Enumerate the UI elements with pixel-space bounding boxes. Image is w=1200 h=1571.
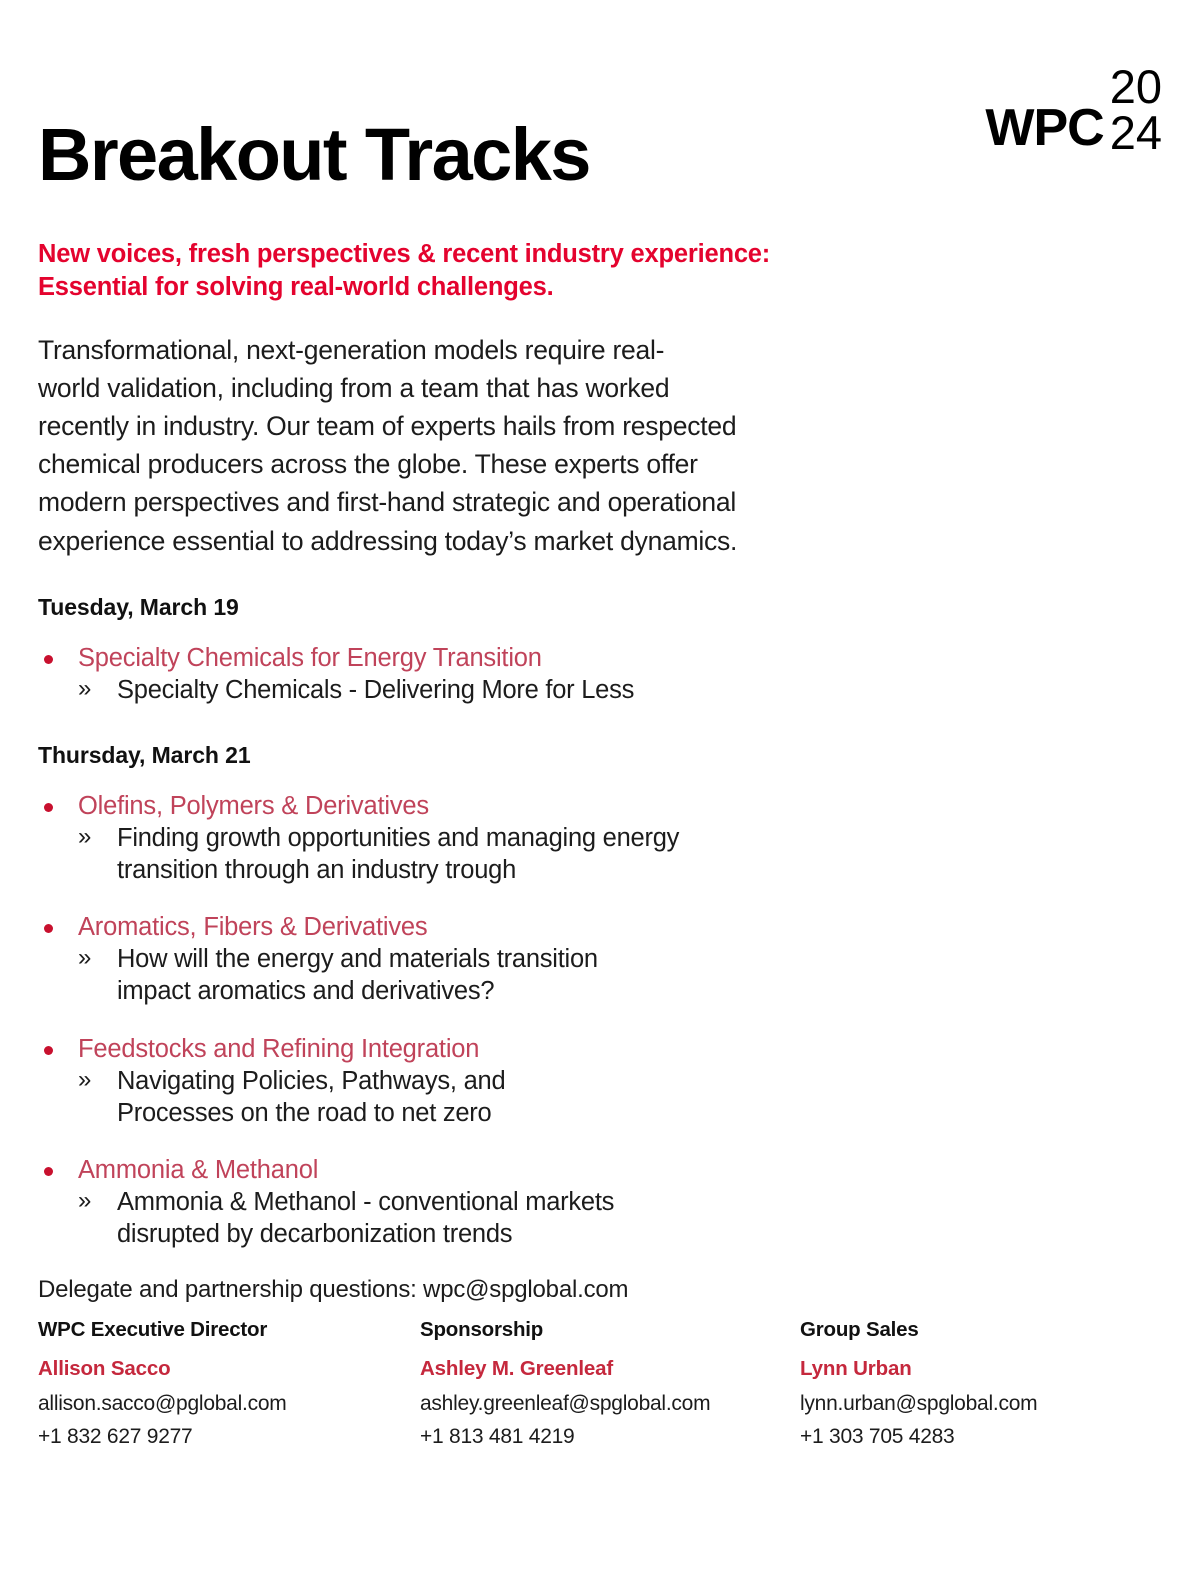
track-title: Specialty Chemicals for Energy Transitio…	[78, 643, 1162, 673]
track-session-line-1: How will the energy and materials transi…	[117, 943, 1162, 975]
intro-line-1: Transformational, next-generation models…	[38, 331, 1048, 369]
day-section-tuesday: Tuesday, March 19 Specialty Chemicals fo…	[38, 594, 1162, 706]
track-session-line-1: Ammonia & Methanol - conventional market…	[117, 1186, 1162, 1218]
logo-year-bottom: 24	[1110, 110, 1162, 156]
intro-line-4: chemical producers across the globe. The…	[38, 445, 1048, 483]
subheadline: New voices, fresh perspectives & recent …	[38, 238, 1098, 305]
day-section-thursday: Thursday, March 21 Olefins, Polymers & D…	[38, 742, 1162, 1250]
double-chevron-icon: »	[78, 1186, 91, 1216]
subheadline-line-2: Essential for solving real-world challen…	[38, 271, 1098, 304]
track-item[interactable]: Olefins, Polymers & Derivatives » Findin…	[38, 791, 1162, 886]
delegate-questions-line[interactable]: Delegate and partnership questions: wpc@…	[38, 1276, 1162, 1304]
day-heading: Thursday, March 21	[38, 742, 1162, 769]
track-session: » How will the energy and materials tran…	[78, 943, 1162, 1007]
contact-email[interactable]: lynn.urban@spglobal.com	[800, 1388, 1162, 1421]
double-chevron-icon: »	[78, 1065, 91, 1095]
logo-brand-text: WPC	[985, 102, 1103, 154]
track-session-line-2: Processes on the road to net zero	[117, 1097, 1162, 1129]
contact-column: Sponsorship Ashley M. Greenleaf ashley.g…	[420, 1318, 800, 1453]
contact-role: Sponsorship	[420, 1318, 800, 1342]
track-title: Olefins, Polymers & Derivatives	[78, 791, 1162, 821]
contact-name: Lynn Urban	[800, 1357, 1162, 1381]
contact-name: Allison Sacco	[38, 1357, 420, 1381]
contact-name: Ashley M. Greenleaf	[420, 1357, 800, 1381]
double-chevron-icon: »	[78, 943, 91, 973]
bullet-dot-icon	[44, 803, 53, 812]
intro-line-3: recently in industry. Our team of expert…	[38, 407, 1048, 445]
double-chevron-icon: »	[78, 674, 91, 704]
contact-email[interactable]: allison.sacco@pglobal.com	[38, 1388, 420, 1421]
track-item[interactable]: Aromatics, Fibers & Derivatives » How wi…	[38, 912, 1162, 1007]
contact-column: Group Sales Lynn Urban lynn.urban@spglob…	[800, 1318, 1162, 1453]
track-session-line-2: impact aromatics and derivatives?	[117, 975, 1162, 1007]
track-title: Aromatics, Fibers & Derivatives	[78, 912, 1162, 942]
track-session-line-2: disrupted by decarbonization trends	[117, 1218, 1162, 1250]
intro-line-2: world validation, including from a team …	[38, 369, 1048, 407]
track-session: » Specialty Chemicals - Delivering More …	[78, 674, 1162, 706]
track-item[interactable]: Feedstocks and Refining Integration » Na…	[38, 1034, 1162, 1129]
bullet-dot-icon	[44, 655, 53, 664]
intro-line-5: modern perspectives and first-hand strat…	[38, 483, 1048, 521]
day-heading: Tuesday, March 19	[38, 594, 1162, 621]
track-title: Feedstocks and Refining Integration	[78, 1034, 1162, 1064]
wpc-logo: WPC 20 24	[985, 62, 1162, 154]
contacts-grid: WPC Executive Director Allison Sacco all…	[38, 1318, 1162, 1453]
track-session-line-2: transition through an industry trough	[117, 854, 1162, 886]
contact-phone[interactable]: +1 832 627 9277	[38, 1421, 420, 1454]
page-title: Breakout Tracks	[38, 118, 590, 192]
track-session-line-1: Specialty Chemicals - Delivering More fo…	[117, 674, 1162, 706]
track-session: » Finding growth opportunities and manag…	[78, 822, 1162, 886]
page-header: Breakout Tracks WPC 20 24	[38, 0, 1162, 238]
track-item[interactable]: Ammonia & Methanol » Ammonia & Methanol …	[38, 1155, 1162, 1250]
bullet-dot-icon	[44, 1167, 53, 1176]
contact-phone[interactable]: +1 303 705 4283	[800, 1421, 1162, 1454]
logo-year-top: 20	[1110, 64, 1162, 110]
contact-role: Group Sales	[800, 1318, 1162, 1342]
intro-paragraph: Transformational, next-generation models…	[38, 331, 1048, 560]
bullet-dot-icon	[44, 924, 53, 933]
track-title: Ammonia & Methanol	[78, 1155, 1162, 1185]
track-session-line-1: Finding growth opportunities and managin…	[117, 822, 1162, 854]
logo-year: 20 24	[1110, 64, 1162, 156]
contact-column: WPC Executive Director Allison Sacco all…	[38, 1318, 420, 1453]
contact-email[interactable]: ashley.greenleaf@spglobal.com	[420, 1388, 800, 1421]
subheadline-line-1: New voices, fresh perspectives & recent …	[38, 238, 1098, 271]
bullet-dot-icon	[44, 1046, 53, 1055]
track-session: » Navigating Policies, Pathways, and Pro…	[78, 1065, 1162, 1129]
track-session: » Ammonia & Methanol - conventional mark…	[78, 1186, 1162, 1250]
track-session-line-1: Navigating Policies, Pathways, and	[117, 1065, 1162, 1097]
double-chevron-icon: »	[78, 822, 91, 852]
track-item[interactable]: Specialty Chemicals for Energy Transitio…	[38, 643, 1162, 706]
contact-role: WPC Executive Director	[38, 1318, 420, 1342]
intro-line-6: experience essential to addressing today…	[38, 522, 1048, 560]
poster-page: Breakout Tracks WPC 20 24 New voices, fr…	[0, 0, 1200, 1571]
contact-phone[interactable]: +1 813 481 4219	[420, 1421, 800, 1454]
